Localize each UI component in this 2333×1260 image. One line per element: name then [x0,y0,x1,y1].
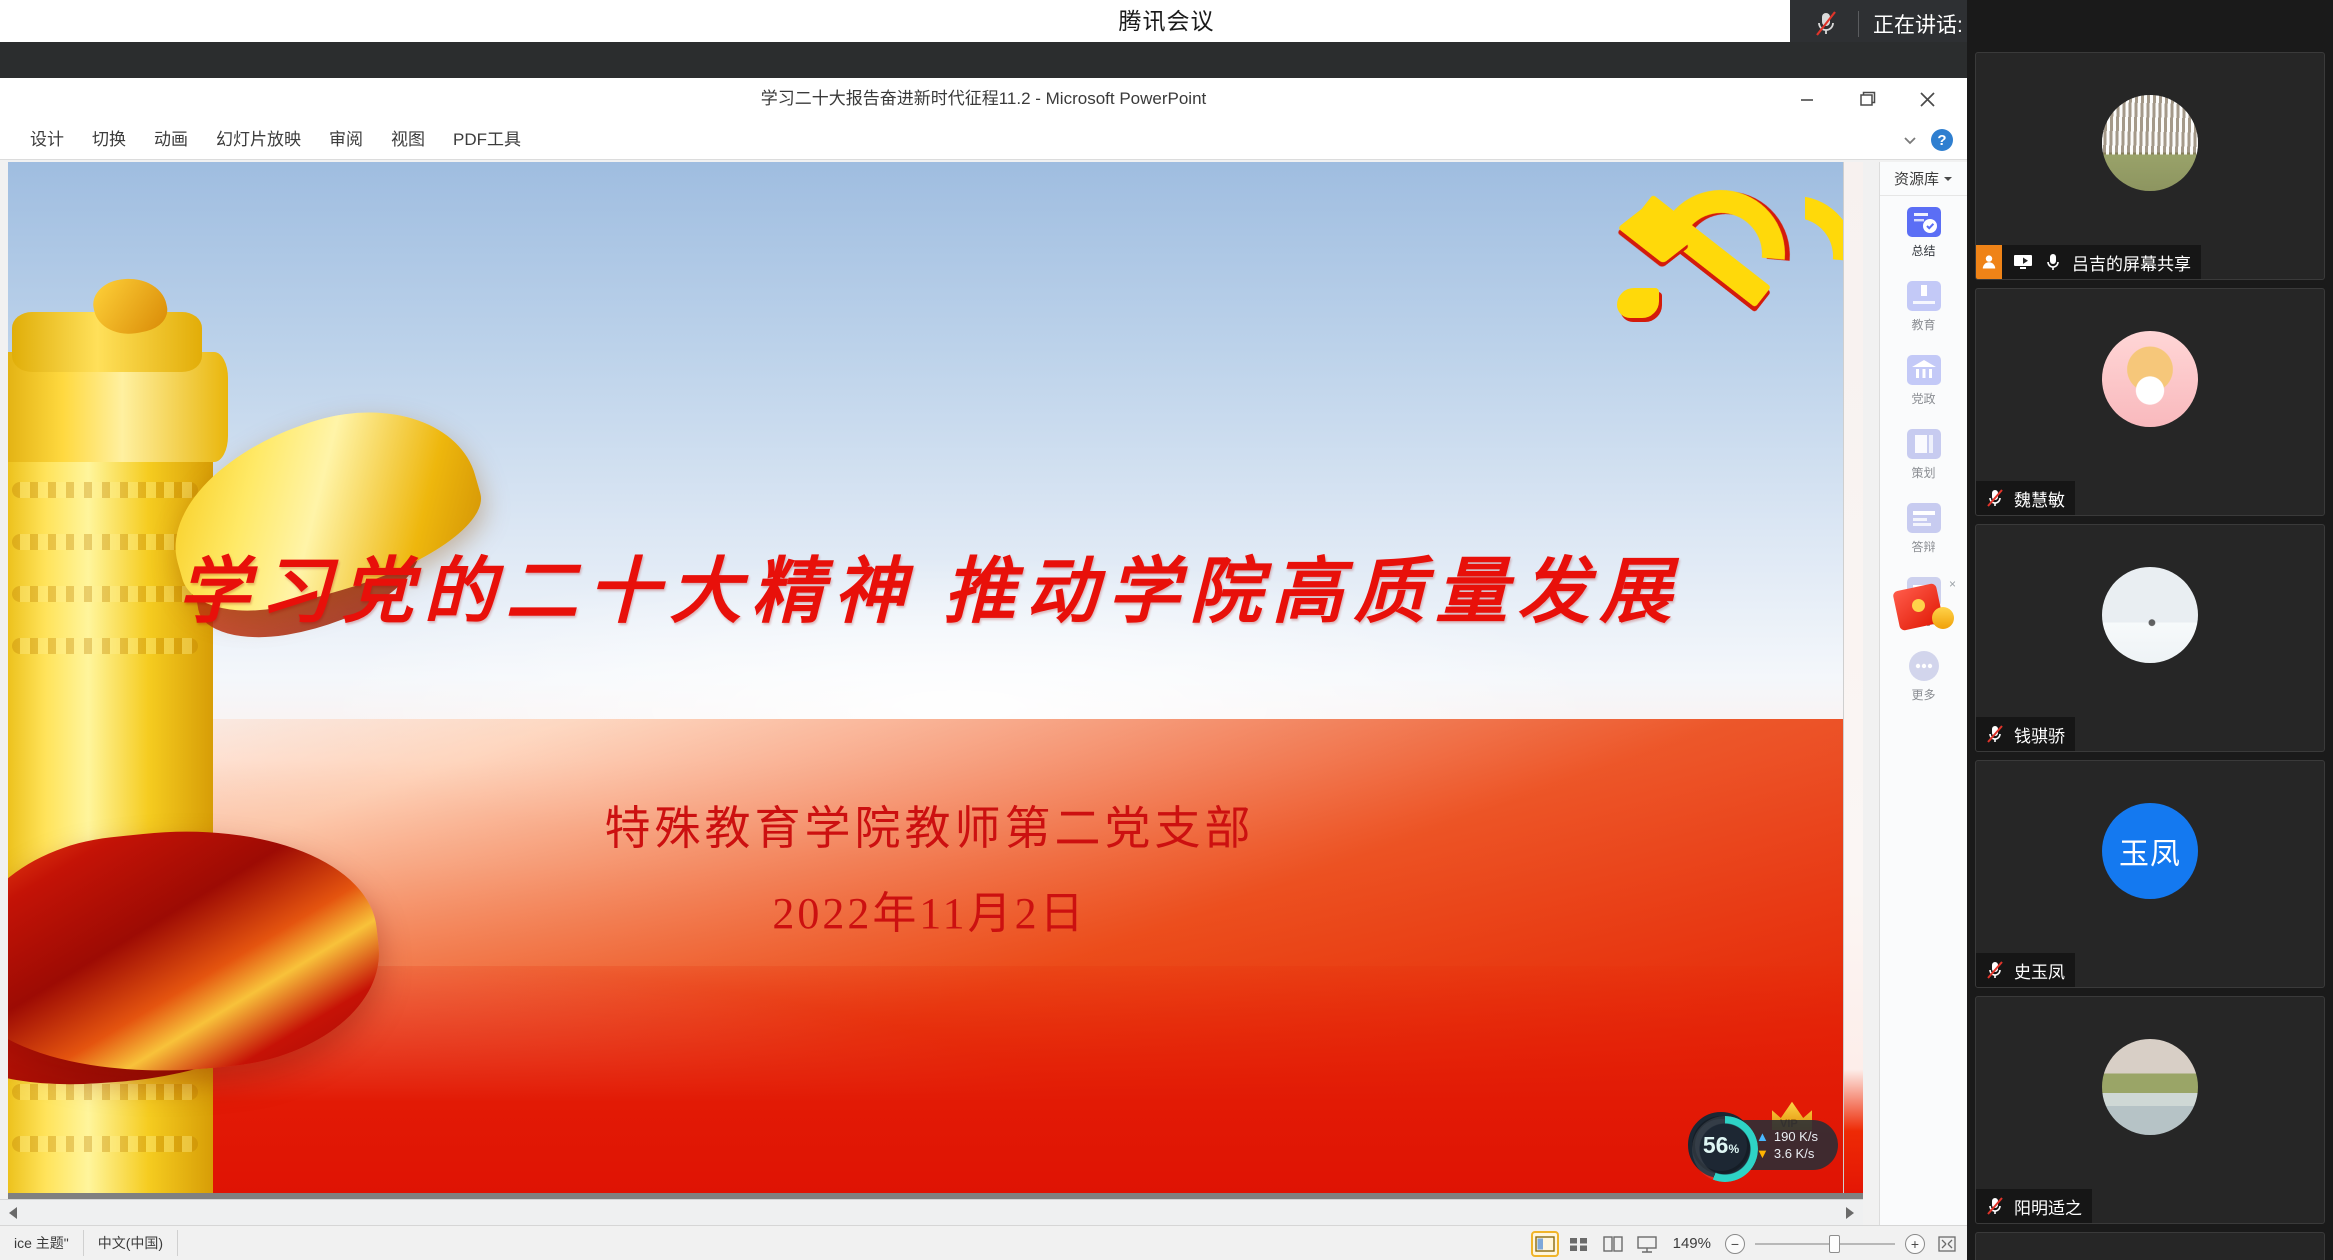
slide-canvas[interactable]: 学习党的二十大精神 推动学院高质量发展 特殊教育学院教师第二党支部 2022年1… [8,162,1851,1193]
more-dots-icon [1909,651,1939,681]
resource-library-label: 资源库 [1894,168,1939,189]
participant-name-bar: 魏慧敏 [1976,481,2075,515]
slide-sorter-button[interactable] [1567,1233,1591,1255]
resource-library-header[interactable]: 资源库 [1880,162,1967,196]
participant-rail[interactable]: 吕吉的屏幕共享 魏慧敏 [1967,0,2333,1260]
participant-tile-screenshare[interactable]: 吕吉的屏幕共享 [1975,52,2325,280]
participant-name: 吕吉的屏幕共享 [2072,250,2191,275]
progress-percent-symbol: % [1728,1142,1739,1156]
powerpoint-titlebar: 学习二十大报告奋进新时代征程11.2 - Microsoft PowerPoin… [0,78,1967,120]
red-envelope-promo[interactable]: × [1890,577,1956,635]
slide-editing-area[interactable]: 学习党的二十大精神 推动学院高质量发展 特殊教育学院教师第二党支部 2022年1… [8,162,1863,1199]
zoom-level: 149% [1673,1235,1711,1252]
fit-to-window-button[interactable] [1935,1233,1959,1255]
participant-tile[interactable]: 玉凤 史玉凤 [1975,760,2325,988]
mic-muted-icon [1984,487,2006,509]
window-top-strip [0,42,1967,78]
minimize-icon [1788,84,1826,114]
mic-muted-icon [1808,9,1844,39]
party-emblem-icon [1611,184,1801,349]
reading-view-button[interactable] [1601,1233,1625,1255]
resource-item-label: 答辩 [1911,538,1935,555]
powerpoint-status-bar: ice 主题" 中文(中国) [0,1225,1967,1260]
ppt-close-button[interactable] [1908,84,1946,114]
powerpoint-document-title: 学习二十大报告奋进新时代征程11.2 - Microsoft PowerPoin… [0,78,1967,120]
resource-item-summary[interactable]: 总结 [1880,196,1967,270]
resource-item-more[interactable]: 更多 [1880,640,1967,714]
upload-speed-row: ▲ 190 K/s [1756,1129,1838,1144]
resource-item-label: 策划 [1911,464,1935,481]
mic-muted-icon [1984,723,2006,745]
resource-item-label: 总结 [1911,242,1935,259]
education-icon [1907,281,1941,311]
resource-item-defense[interactable]: 答辩 [1880,492,1967,566]
avatar [2102,331,2198,427]
status-language[interactable]: 中文(中国) [84,1230,178,1256]
speaking-label: 正在讲话: [1873,9,1963,39]
zoom-slider[interactable] [1755,1243,1895,1245]
coin-icon [1932,607,1954,629]
participant-name: 魏慧敏 [2014,486,2065,511]
powerpoint-window-controls [1777,78,1957,120]
resource-item-education[interactable]: 教育 [1880,270,1967,344]
avatar [2102,567,2198,663]
participant-name: 钱骐骄 [2014,722,2065,747]
menu-item-design[interactable]: 设计 [16,120,78,160]
mic-on-icon [2042,251,2064,273]
participant-name-bar: 阳明适之 [1976,1189,2092,1223]
zoom-in-button[interactable]: + [1905,1234,1925,1254]
slide-date[interactable]: 2022年11月2日 [8,877,1851,941]
participant-name: 史玉凤 [2014,958,2065,983]
menu-item-slideshow[interactable]: 幻灯片放映 [202,120,315,160]
menu-item-pdf-tools[interactable]: PDF工具 [439,120,535,160]
government-icon [1907,355,1941,385]
resource-item-planning[interactable]: 策划 [1880,418,1967,492]
huabiao-pillar-icon [8,272,298,1193]
menu-item-transitions[interactable]: 切换 [78,120,140,160]
menu-item-view[interactable]: 视图 [377,120,439,160]
download-speed-row: ▼ 3.6 K/s [1756,1146,1838,1161]
download-speed-widget[interactable]: VIP ▲ 190 K/s ▼ 3.6 K/s 56% [1688,1112,1838,1174]
screen-share-icon [2012,251,2034,273]
resource-item-label: 教育 [1911,316,1935,333]
next-slide-preview [1843,162,1863,1193]
mic-muted-icon [1984,1195,2006,1217]
status-theme[interactable]: ice 主题" [0,1230,84,1256]
powerpoint-window: 学习二十大报告奋进新时代征程11.2 - Microsoft PowerPoin… [0,42,1967,1260]
progress-ring: 56% [1688,1112,1754,1178]
powerpoint-menubar: 设计 切换 动画 幻灯片放映 审阅 视图 PDF工具 [0,120,1967,160]
horizontal-scrollbar[interactable] [0,1199,1863,1225]
participant-name-bar: 史玉凤 [1976,953,2075,987]
normal-view-button[interactable] [1533,1233,1557,1255]
avatar: 玉凤 [2102,803,2198,899]
download-speed-value: 3.6 K/s [1774,1146,1814,1161]
divider [1858,11,1859,37]
ppt-minimize-button[interactable] [1788,84,1826,114]
zoom-out-button[interactable]: − [1725,1234,1745,1254]
participant-name-bar: 吕吉的屏幕共享 [1976,245,2201,279]
close-icon [1908,84,1946,114]
upload-arrow-icon: ▲ [1756,1129,1769,1144]
slideshow-button[interactable] [1635,1233,1659,1255]
participant-name: 阳明适之 [2014,1194,2082,1219]
defense-icon [1907,503,1941,533]
summary-icon [1907,207,1941,237]
menu-item-animations[interactable]: 动画 [140,120,202,160]
progress-percent: 56% [1703,1132,1739,1159]
zoom-slider-thumb[interactable] [1829,1235,1840,1253]
scroll-right-arrow[interactable] [1837,1201,1863,1225]
resource-library-panel: 资源库 总结 [1879,162,1967,1225]
slide-main-title[interactable]: 学习党的二十大精神 推动学院高质量发展 [8,532,1851,637]
participant-tile[interactable]: 魏慧敏 [1975,288,2325,516]
chevron-down-icon[interactable] [1901,131,1919,149]
avatar [2102,1039,2198,1135]
participant-name-bar: 钱骐骄 [1976,717,2075,751]
participant-tile[interactable] [1975,1232,2325,1260]
mic-muted-icon [1984,959,2006,981]
resource-item-label: 党政 [1911,390,1935,407]
participant-tile[interactable]: 钱骐骄 [1975,524,2325,752]
participant-tile[interactable]: 阳明适之 [1975,996,2325,1224]
progress-percent-value: 56 [1703,1132,1729,1158]
close-icon[interactable]: × [1949,577,1956,591]
menu-item-review[interactable]: 审阅 [315,120,377,160]
planning-icon [1907,429,1941,459]
host-person-icon [1976,245,2002,279]
resource-item-label: 更多 [1911,686,1935,703]
ppt-restore-button[interactable] [1848,84,1886,114]
avatar-initials: 玉凤 [2119,829,2181,873]
restore-icon [1848,84,1886,114]
upload-speed-value: 190 K/s [1774,1129,1818,1144]
chevron-down-icon [1943,174,1953,184]
resource-item-government[interactable]: 党政 [1880,344,1967,418]
scroll-left-arrow[interactable] [0,1201,26,1225]
avatar [2102,95,2198,191]
slide-subtitle[interactable]: 特殊教育学院教师第二党支部 [8,792,1851,858]
help-icon[interactable]: ? [1931,129,1953,151]
status-view-controls: 149% − + [1533,1226,1959,1260]
ribbon-help-controls: ? [1901,120,1953,160]
